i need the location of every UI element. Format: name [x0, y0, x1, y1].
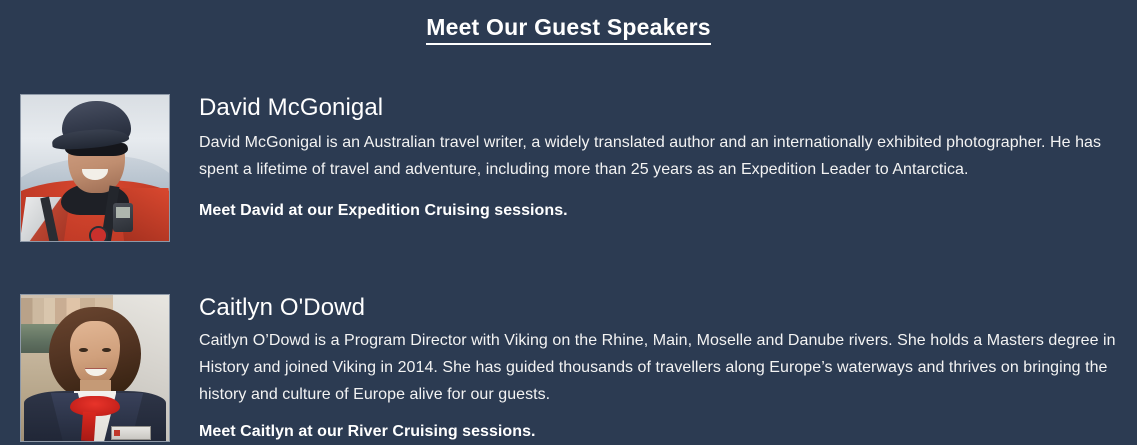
- speaker-bio: Caitlyn O’Dowd is a Program Director wit…: [199, 327, 1125, 408]
- david-mcgonigal-photo: [21, 95, 169, 241]
- photo-eye-right: [102, 348, 111, 352]
- speaker-text-block: Caitlyn O'Dowd Caitlyn O’Dowd is a Progr…: [199, 294, 1125, 445]
- caitlyn-odowd-photo: [21, 295, 169, 441]
- page-title-text: Meet Our Guest Speakers: [426, 14, 711, 45]
- photo-eye-left: [79, 348, 88, 352]
- speaker-session-note: Meet Caitlyn at our River Cruising sessi…: [199, 418, 1125, 445]
- page-title: Meet Our Guest Speakers: [0, 14, 1137, 41]
- photo-badge: [89, 226, 108, 241]
- speaker-bio: David McGonigal is an Australian travel …: [199, 129, 1125, 183]
- speaker-session-note: Meet David at our Expedition Cruising se…: [199, 197, 1125, 224]
- speaker-name: David McGonigal: [199, 94, 1125, 122]
- photo-name-badge: [111, 426, 151, 440]
- photo-scarf-tail: [81, 411, 96, 441]
- photo-radio-device: [113, 203, 134, 232]
- guest-speakers-page: Meet Our Guest Speakers: [0, 0, 1137, 445]
- speaker-photo-frame: [20, 94, 170, 242]
- speaker-text-block: David McGonigal David McGonigal is an Au…: [199, 94, 1125, 224]
- speaker-photo-frame: [20, 294, 170, 442]
- speaker-name: Caitlyn O'Dowd: [199, 294, 1125, 322]
